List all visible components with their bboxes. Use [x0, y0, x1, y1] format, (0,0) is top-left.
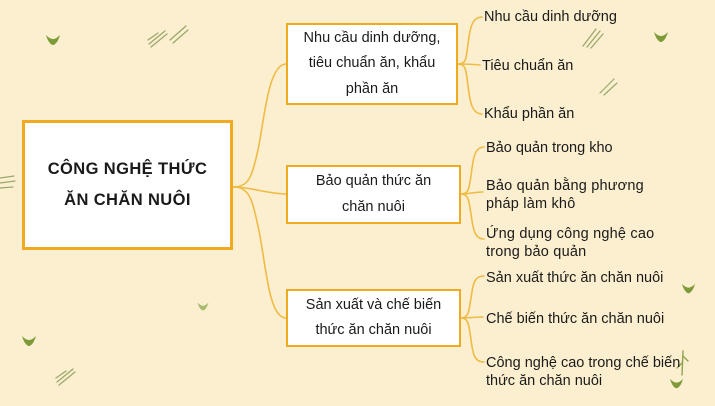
stroke-decoration-icon [580, 26, 606, 50]
branch-node-2[interactable]: Bảo quản thức ăn chăn nuôi [286, 165, 461, 224]
stroke-decoration-icon [166, 22, 190, 46]
connector-branch-3-leaf-2 [461, 317, 483, 318]
leaf-item-1-3[interactable]: Khẩu phần ăn [484, 105, 574, 123]
stroke-decoration-icon [596, 74, 620, 98]
connector-branch-1-leaf-3 [458, 64, 482, 114]
leaf-item-2-2[interactable]: Bảo quản bằng phương pháp làm khô [486, 177, 644, 213]
branch-node-2-label: Bảo quản thức ăn chăn nuôi [308, 169, 439, 220]
leaf-item-1-2[interactable]: Tiêu chuẩn ăn [482, 57, 573, 75]
stroke-decoration-icon [146, 28, 170, 50]
leaf-decoration-icon [44, 32, 62, 48]
leaf-decoration-icon [652, 29, 670, 45]
connector-center-to-branch-3 [233, 187, 286, 318]
leaf-decoration-icon [680, 281, 697, 296]
branch-node-3-label: Sản xuất và chế biến thức ăn chăn nuôi [298, 293, 449, 344]
connector-branch-2-leaf-2 [461, 192, 483, 194]
leaf-item-3-1[interactable]: Sản xuất thức ăn chăn nuôi [486, 269, 663, 287]
mindmap-canvas: CÔNG NGHỆ THỨC ĂN CHĂN NUÔI Nhu cầu dinh… [0, 0, 715, 406]
leaf-decoration-icon [20, 333, 38, 349]
connector-branch-2-leaf-1 [461, 147, 484, 194]
connector-center-to-branch-1 [233, 64, 286, 187]
central-node-label: CÔNG NGHỆ THỨC ĂN CHĂN NUÔI [40, 154, 216, 217]
connector-branch-1-leaf-1 [458, 17, 482, 64]
branch-node-1[interactable]: Nhu cầu dinh dưỡng, tiêu chuẩn ăn, khẩu … [286, 23, 458, 105]
leaf-item-2-3[interactable]: Ứng dụng công nghệ cao trong bảo quản [486, 225, 654, 261]
central-node[interactable]: CÔNG NGHỆ THỨC ĂN CHĂN NUÔI [22, 120, 233, 250]
leaf-item-3-3[interactable]: Công nghệ cao trong chế biến thức ăn chă… [486, 354, 680, 390]
leaf-decoration-icon [196, 300, 210, 313]
leaf-item-1-1[interactable]: Nhu cầu dinh dưỡng [484, 8, 617, 26]
stroke-decoration-icon [0, 172, 20, 194]
stroke-decoration-icon [54, 366, 78, 388]
branch-node-3[interactable]: Sản xuất và chế biến thức ăn chăn nuôi [286, 289, 461, 347]
connector-branch-3-leaf-3 [461, 318, 484, 362]
connector-branch-2-leaf-3 [461, 194, 484, 239]
leaf-item-3-2[interactable]: Chế biến thức ăn chăn nuôi [486, 310, 664, 328]
connector-center-to-branch-2 [233, 187, 286, 194]
connector-branch-1-leaf-2 [458, 64, 480, 65]
connector-branch-3-leaf-1 [461, 276, 484, 318]
branch-node-1-label: Nhu cầu dinh dưỡng, tiêu chuẩn ăn, khẩu … [296, 26, 449, 102]
leaf-item-2-1[interactable]: Bảo quản trong kho [486, 139, 613, 157]
